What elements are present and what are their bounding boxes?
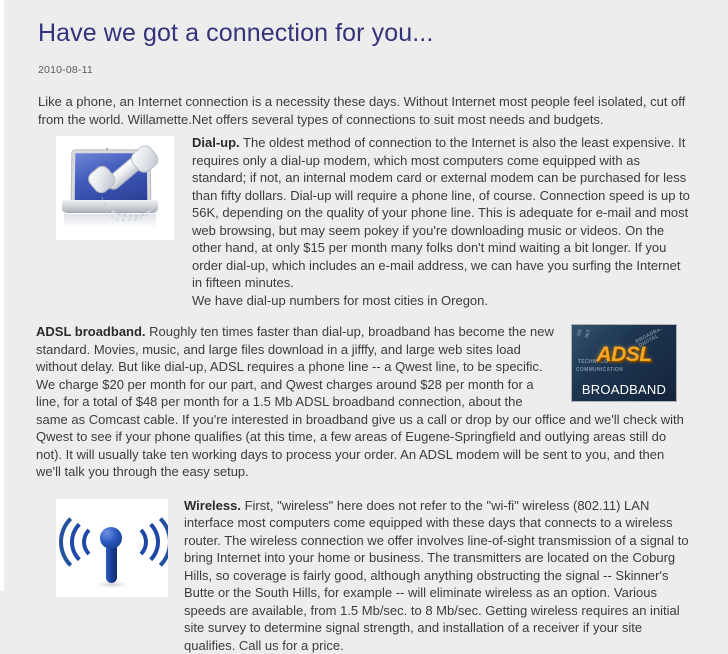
dialup-callout: We have dial-up numbers for most cities …	[192, 292, 692, 310]
dialup-text-block: Dial-up. The oldest method of connection…	[192, 134, 692, 309]
page-title: Have we got a connection for you...	[38, 18, 692, 48]
wireless-antenna-image	[56, 499, 168, 597]
wireless-text-block: Wireless. First, "wireless" here does no…	[184, 497, 692, 654]
dialup-body-text: The oldest method of connection to the I…	[192, 135, 690, 290]
post-date: 2010-08-11	[38, 64, 692, 76]
antenna-emitter-icon	[100, 527, 122, 549]
intro-paragraph: Like a phone, an Internet connection is …	[38, 93, 686, 128]
adsl-section: NETWORK INTERNET TECHNOLOGY COMMUNICATIO…	[36, 323, 692, 481]
antenna-shadow	[96, 581, 128, 588]
dialup-lead-label: Dial-up.	[192, 135, 240, 150]
dialup-laptop-phone-image	[56, 136, 174, 240]
wireless-paragraph: Wireless. First, "wireless" here does no…	[184, 497, 692, 654]
dialup-paragraph: Dial-up. The oldest method of connection…	[192, 134, 692, 292]
adsl-badge-title: ADSL	[572, 343, 676, 367]
cloud-word: COMMUNICATION	[576, 367, 623, 373]
adsl-badge-subtitle: BROADBAND	[572, 382, 676, 397]
adsl-lead-label: ADSL broadband.	[36, 324, 146, 339]
adsl-broadband-badge-image: NETWORK INTERNET TECHNOLOGY COMMUNICATIO…	[572, 325, 676, 401]
cloud-word: INTERNET	[584, 329, 598, 339]
wireless-body-text: First, "wireless" here does not refer to…	[184, 498, 689, 653]
wireless-lead-label: Wireless.	[184, 498, 241, 513]
wireless-section: Wireless. First, "wireless" here does no…	[36, 497, 692, 654]
dialup-section: Dial-up. The oldest method of connection…	[36, 134, 692, 309]
article-page: Have we got a connection for you... 2010…	[0, 0, 728, 591]
